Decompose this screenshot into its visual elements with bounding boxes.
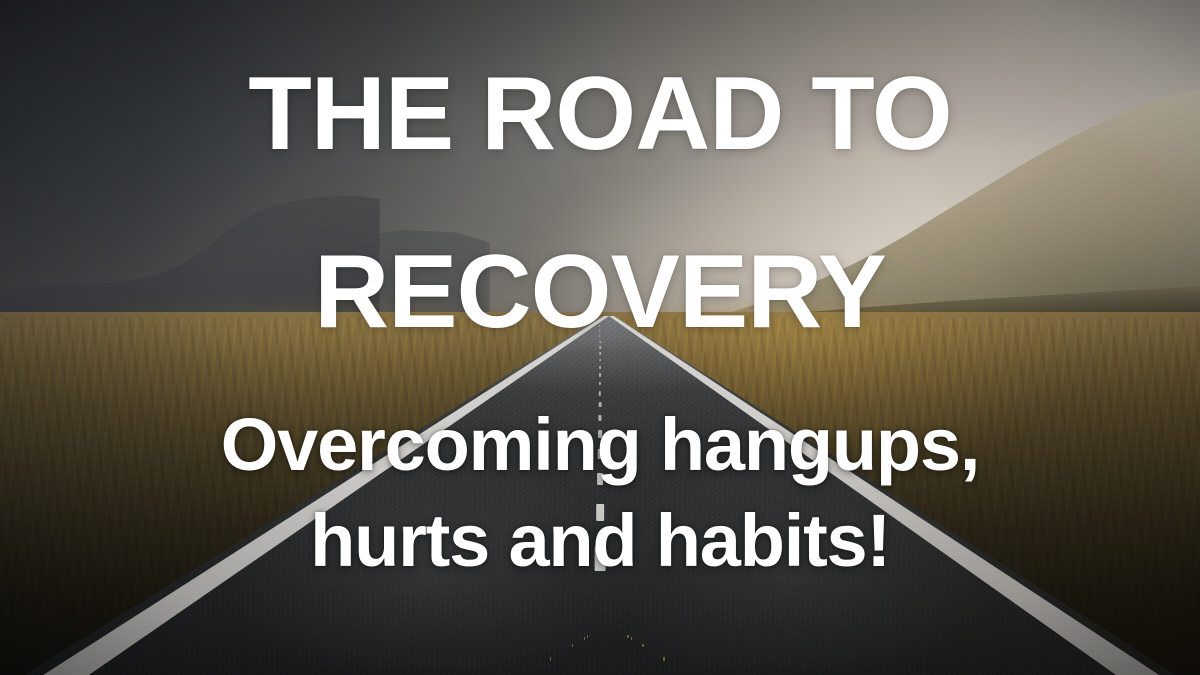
subtitle-line-2: hurts and habits! (0, 504, 1200, 578)
title-line-1: THE ROAD TO (0, 66, 1200, 162)
subtitle-line-1: Overcoming hangups, (0, 408, 1200, 482)
slide-canvas: THE ROAD TO RECOVERY Overcoming hangups,… (0, 0, 1200, 675)
text-overlay: THE ROAD TO RECOVERY Overcoming hangups,… (0, 0, 1200, 675)
title-line-2: RECOVERY (0, 244, 1200, 340)
